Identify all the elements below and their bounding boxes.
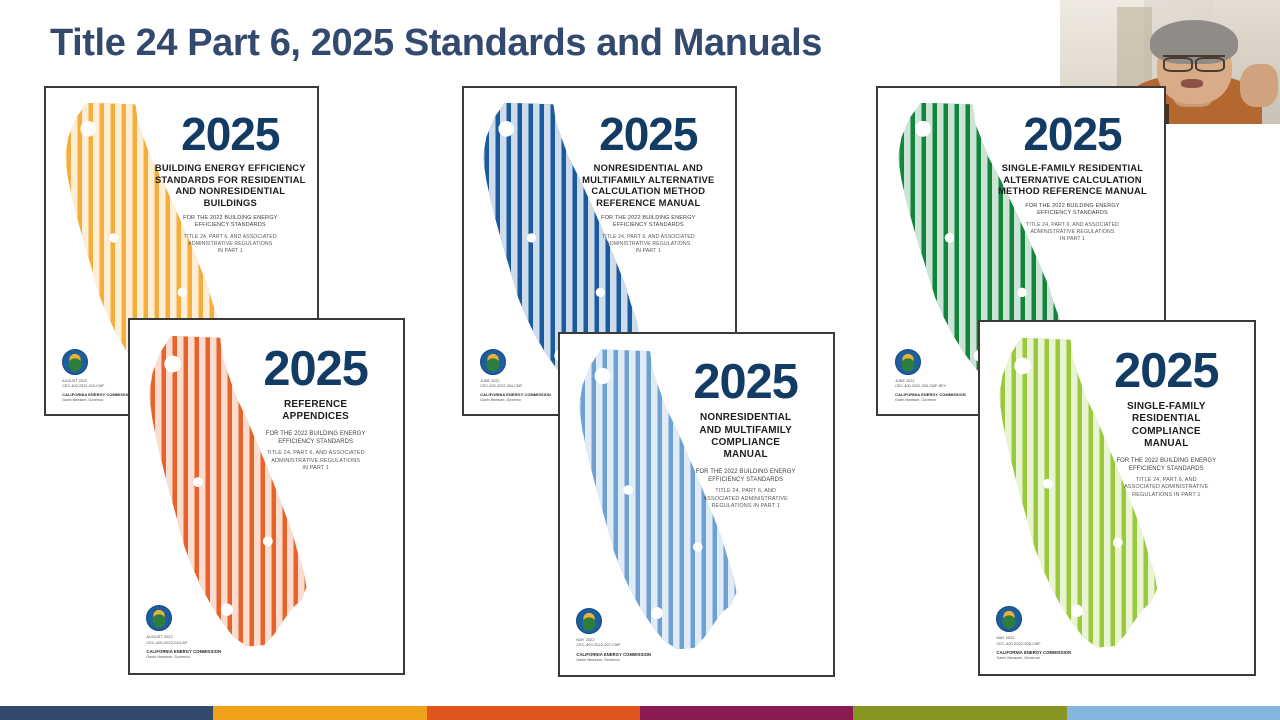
- cover-title-line: ALTERNATIVE CALCULATION: [990, 174, 1156, 186]
- cover-title-line: AND NONRESIDENTIAL BUILDINGS: [152, 185, 309, 209]
- color-bar-segment-olive: [853, 706, 1066, 720]
- cover-document-title: NONRESIDENTIAL ANDMULTIFAMILY ALTERNATIV…: [570, 162, 727, 209]
- cover-subtitle-line: EFFICIENCY STANDARDS: [236, 438, 394, 446]
- webcam-background-door: [1117, 7, 1152, 89]
- cover-title-line: NONRESIDENTIAL: [666, 412, 824, 424]
- cover-subtitle-line: FOR THE 2022 BUILDING ENERGY: [1087, 457, 1246, 465]
- cover-subtitle-line: EFFICIENCY STANDARDS: [1087, 465, 1246, 473]
- cover-regulation-line: TITLE 24, PART 6, AND ASSOCIATED: [990, 222, 1156, 229]
- color-bar-segment-red-orange: [427, 706, 640, 720]
- cover-regulation-line: IN PART 1: [990, 236, 1156, 243]
- cover-title-line: MULTIFAMILY ALTERNATIVE: [570, 174, 727, 186]
- cover-title-line: SINGLE-FAMILY: [1087, 401, 1246, 413]
- cover-document-title: SINGLE-FAMILYRESIDENTIALCOMPLIANCEMANUAL: [1087, 401, 1246, 451]
- cover-subtitle-line: EFFICIENCY STANDARDS: [990, 210, 1156, 218]
- cover-text-block: 2025NONRESIDENTIALAND MULTIFAMILYCOMPLIA…: [666, 358, 824, 511]
- cover-regulation-line: ADMINISTRATIVE REGULATIONS: [990, 229, 1156, 236]
- cover-footer-docnum: CEC-400-2022-008-CMF: [996, 642, 1128, 648]
- cover-regulation-line: TITLE 24, PART 6, AND ASSOCIATED: [570, 234, 727, 241]
- california-energy-commission-seal-icon: [996, 606, 1022, 632]
- cover-subtitle-standards: FOR THE 2022 BUILDING ENERGYEFFICIENCY S…: [1087, 457, 1246, 473]
- document-cover-single-family-residential-compliance-manual[interactable]: 2025SINGLE-FAMILYRESIDENTIALCOMPLIANCEMA…: [978, 320, 1256, 676]
- cover-regulation-line: TITLE 24, PART 6, AND: [666, 488, 824, 495]
- cover-subtitle-regulations: TITLE 24, PART 6, ANDASSOCIATED ADMINIST…: [666, 488, 824, 510]
- cover-title-line: CALCULATION METHOD: [570, 185, 727, 197]
- cover-subtitle-regulations: TITLE 24, PART 6, AND ASSOCIATEDADMINIST…: [570, 234, 727, 255]
- color-bar-segment-navy: [0, 706, 213, 720]
- cover-page: 2025REFERENCEAPPENDICESFOR THE 2022 BUIL…: [130, 320, 403, 673]
- brand-color-bar: [0, 706, 1280, 720]
- cover-regulation-line: REGULATIONS IN PART 1: [1087, 492, 1246, 499]
- cover-title-line: AND MULTIFAMILY: [666, 425, 824, 437]
- participant-mouth: [1181, 79, 1203, 88]
- cover-regulation-line: TITLE 24, PART 6, AND: [1087, 477, 1246, 484]
- cover-document-title: BUILDING ENERGY EFFICIENCYSTANDARDS FOR …: [152, 162, 309, 209]
- cover-title-line: BUILDING ENERGY EFFICIENCY: [152, 162, 309, 174]
- cover-subtitle-line: EFFICIENCY STANDARDS: [570, 222, 727, 230]
- document-cover-nonresidential-multifamily-compliance-manual[interactable]: 2025NONRESIDENTIALAND MULTIFAMILYCOMPLIA…: [558, 332, 835, 677]
- cover-regulation-line: TITLE 24, PART 6, AND ASSOCIATED: [236, 450, 394, 457]
- cover-footer-agency-sub: Gavin Newsom, Governor: [576, 658, 707, 663]
- color-bar-segment-magenta: [640, 706, 853, 720]
- cover-title-line: REFERENCE: [236, 399, 394, 411]
- cover-regulation-line: ADMINISTRATIVE REGULATIONS: [570, 241, 727, 248]
- cover-footer-docnum: CEC-400-2022-007-CMF: [576, 643, 707, 649]
- cover-title-line: REFERENCE MANUAL: [570, 197, 727, 209]
- cover-title-line: MANUAL: [666, 449, 824, 461]
- cover-subtitle-regulations: TITLE 24, PART 6, AND ASSOCIATEDADMINIST…: [990, 222, 1156, 243]
- cover-document-title: REFERENCEAPPENDICES: [236, 399, 394, 424]
- cover-title-line: SINGLE-FAMILY RESIDENTIAL: [990, 162, 1156, 174]
- cover-regulation-line: REGULATIONS IN PART 1: [666, 503, 824, 510]
- cover-title-line: MANUAL: [1087, 438, 1246, 450]
- cover-year: 2025: [1087, 347, 1246, 396]
- color-bar-segment-orange: [213, 706, 426, 720]
- cover-title-line: RESIDENTIAL: [1087, 413, 1246, 425]
- cover-subtitle-standards: FOR THE 2022 BUILDING ENERGYEFFICIENCY S…: [570, 215, 727, 230]
- california-energy-commission-seal-icon: [895, 349, 921, 375]
- cover-year: 2025: [666, 358, 824, 407]
- eyeglasses-icon: [1163, 55, 1225, 69]
- cover-footer: MAY 2022CEC-400-2022-008-CMFCALIFORNIA E…: [996, 606, 1128, 661]
- cover-subtitle-standards: FOR THE 2022 BUILDING ENERGYEFFICIENCY S…: [990, 203, 1156, 218]
- document-cover-reference-appendices[interactable]: 2025REFERENCEAPPENDICESFOR THE 2022 BUIL…: [128, 318, 405, 675]
- cover-subtitle-regulations: TITLE 24, PART 6, AND ASSOCIATEDADMINIST…: [236, 450, 394, 472]
- participant-hand: [1240, 64, 1277, 106]
- cover-subtitle-regulations: TITLE 24, PART 6, AND ASSOCIATEDADMINIST…: [152, 234, 309, 255]
- cover-regulation-line: ADMINISTRATIVE REGULATIONS: [236, 458, 394, 465]
- page-title: Title 24 Part 6, 2025 Standards and Manu…: [50, 22, 822, 65]
- cover-document-title: SINGLE-FAMILY RESIDENTIALALTERNATIVE CAL…: [990, 162, 1156, 197]
- cover-footer-docnum: CEC-400-2022-010-AP: [146, 641, 277, 647]
- presentation-slide: Title 24 Part 6, 2025 Standards and Manu…: [0, 0, 1280, 720]
- cover-text-block: 2025BUILDING ENERGY EFFICIENCYSTANDARDS …: [152, 111, 309, 255]
- california-energy-commission-seal-icon: [62, 349, 88, 375]
- cover-year: 2025: [990, 111, 1156, 157]
- cover-text-block: 2025SINGLE-FAMILY RESIDENTIALALTERNATIVE…: [990, 111, 1156, 243]
- cover-title-line: METHOD REFERENCE MANUAL: [990, 185, 1156, 197]
- cover-title-line: COMPLIANCE: [666, 437, 824, 449]
- cover-subtitle-line: EFFICIENCY STANDARDS: [666, 476, 824, 484]
- california-energy-commission-seal-icon: [576, 608, 602, 634]
- cover-document-title: NONRESIDENTIALAND MULTIFAMILYCOMPLIANCEM…: [666, 412, 824, 462]
- cover-subtitle-line: FOR THE 2022 BUILDING ENERGY: [666, 468, 824, 476]
- cover-subtitle-line: EFFICIENCY STANDARDS: [152, 222, 309, 230]
- cover-text-block: 2025SINGLE-FAMILYRESIDENTIALCOMPLIANCEMA…: [1087, 347, 1246, 500]
- cover-year: 2025: [152, 111, 309, 157]
- cover-title-line: APPENDICES: [236, 411, 394, 423]
- cover-regulation-line: IN PART 1: [236, 465, 394, 472]
- cover-regulation-line: IN PART 1: [152, 248, 309, 255]
- cover-footer-agency-sub: Gavin Newsom, Governor: [146, 655, 277, 660]
- cover-subtitle-standards: FOR THE 2022 BUILDING ENERGYEFFICIENCY S…: [666, 468, 824, 484]
- cover-subtitle-line: FOR THE 2022 BUILDING ENERGY: [990, 203, 1156, 211]
- california-energy-commission-seal-icon: [480, 349, 506, 375]
- color-bar-segment-light-blue: [1067, 706, 1280, 720]
- cover-text-block: 2025NONRESIDENTIAL ANDMULTIFAMILY ALTERN…: [570, 111, 727, 255]
- cover-regulation-line: IN PART 1: [570, 248, 727, 255]
- cover-year: 2025: [570, 111, 727, 157]
- cover-footer: MAY 2022CEC-400-2022-007-CMFCALIFORNIA E…: [576, 608, 707, 663]
- cover-subtitle-standards: FOR THE 2022 BUILDING ENERGYEFFICIENCY S…: [236, 430, 394, 446]
- cover-regulation-line: ASSOCIATED ADMINISTRATIVE: [666, 496, 824, 503]
- cover-text-block: 2025REFERENCEAPPENDICESFOR THE 2022 BUIL…: [236, 345, 394, 473]
- cover-subtitle-line: FOR THE 2022 BUILDING ENERGY: [570, 215, 727, 223]
- california-energy-commission-seal-icon: [146, 605, 172, 631]
- cover-footer: AUGUST 2022CEC-400-2022-010-APCALIFORNIA…: [146, 605, 277, 660]
- cover-subtitle-line: FOR THE 2022 BUILDING ENERGY: [152, 215, 309, 223]
- cover-subtitle-standards: FOR THE 2022 BUILDING ENERGYEFFICIENCY S…: [152, 215, 309, 230]
- cover-regulation-line: ASSOCIATED ADMINISTRATIVE: [1087, 484, 1246, 491]
- cover-title-line: STANDARDS FOR RESIDENTIAL: [152, 174, 309, 186]
- cover-page: 2025SINGLE-FAMILYRESIDENTIALCOMPLIANCEMA…: [980, 322, 1254, 674]
- cover-page: 2025NONRESIDENTIALAND MULTIFAMILYCOMPLIA…: [560, 334, 833, 675]
- cover-footer-agency-sub: Gavin Newsom, Governor: [996, 656, 1128, 661]
- cover-subtitle-regulations: TITLE 24, PART 6, ANDASSOCIATED ADMINIST…: [1087, 477, 1246, 499]
- cover-title-line: COMPLIANCE: [1087, 426, 1246, 438]
- cover-subtitle-line: FOR THE 2022 BUILDING ENERGY: [236, 430, 394, 438]
- cover-year: 2025: [236, 345, 394, 394]
- cover-regulation-line: ADMINISTRATIVE REGULATIONS: [152, 241, 309, 248]
- cover-title-line: NONRESIDENTIAL AND: [570, 162, 727, 174]
- cover-regulation-line: TITLE 24, PART 6, AND ASSOCIATED: [152, 234, 309, 241]
